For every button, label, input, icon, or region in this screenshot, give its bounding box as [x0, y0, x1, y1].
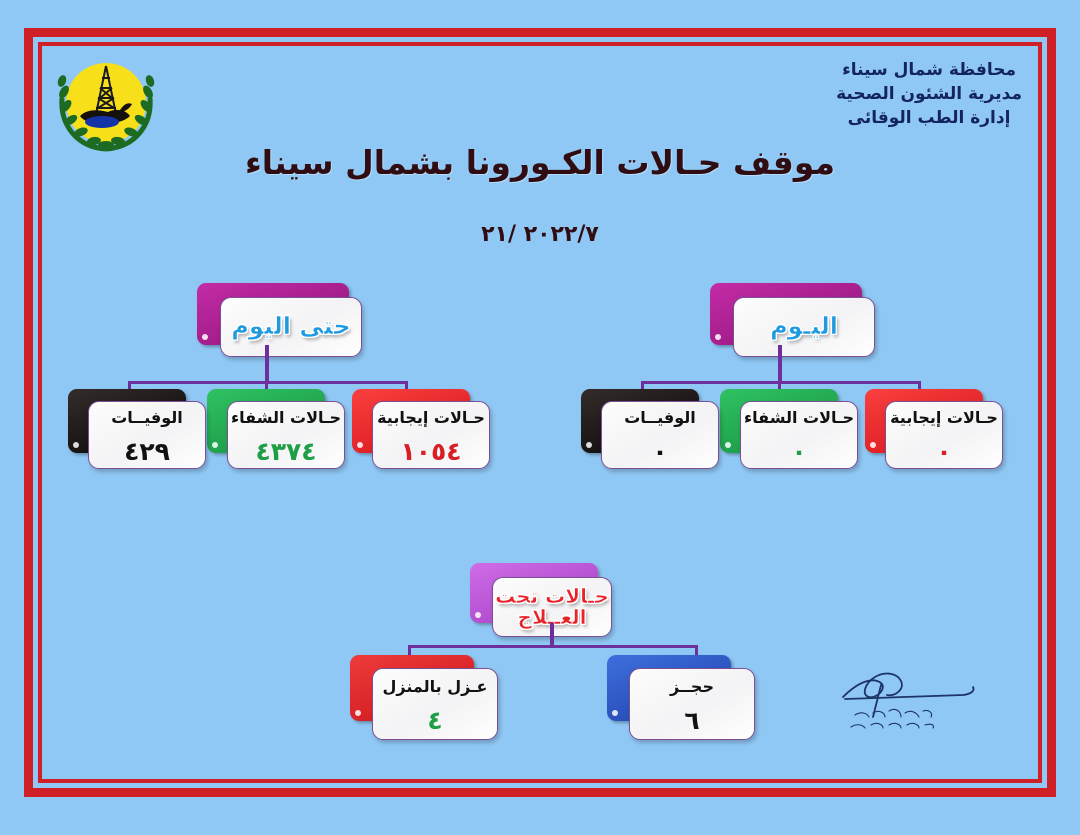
connector-vertical-today-root	[778, 345, 782, 383]
connector-vertical-treatment-root	[550, 623, 554, 647]
today-header-card[interactable]: اليـوم	[710, 283, 862, 345]
cumulative-header-label: حتى اليوم	[231, 314, 350, 339]
under-treatment-header-label-line-1: حـالات تحت	[495, 586, 609, 607]
under-treatment-header-card[interactable]: حـالات تحت العــلاج	[470, 563, 598, 623]
org-header-line-1: محافظة شمال سيناء	[836, 58, 1022, 82]
recovered-cases-cumulative-card[interactable]: حـالات الشفاء ٤٣٧٤	[207, 389, 325, 453]
deaths-cumulative-label: الوفيــات	[111, 410, 183, 427]
positive-cases-today-label: حـالات إيجابية	[890, 410, 998, 427]
cumulative-header-card[interactable]: حتى اليوم	[197, 283, 349, 345]
positive-cases-cumulative-value: ١٠٥٤	[400, 439, 461, 464]
deaths-today-value: ٠	[652, 439, 667, 464]
deaths-today-card[interactable]: الوفيــات ٠	[581, 389, 699, 453]
deaths-today-label: الوفيــات	[624, 410, 696, 427]
recovered-cases-cumulative-label: حـالات الشفاء	[231, 410, 341, 427]
hospital-admission-label: حجــز	[670, 679, 714, 696]
connector-horizontal-treatment	[408, 645, 698, 648]
positive-cases-today-card[interactable]: حـالات إيجابية ٠	[865, 389, 983, 453]
recovered-cases-cumulative-value: ٤٣٧٤	[255, 439, 316, 464]
deaths-cumulative-card[interactable]: الوفيــات ٤٢٩	[68, 389, 186, 453]
page-title: موقف حـالات الكـورونا بشمال سيناء	[0, 143, 1080, 182]
home-isolation-card[interactable]: عـزل بالمنزل ٤	[350, 655, 474, 721]
recovered-cases-today-value: ٠	[791, 439, 806, 464]
org-header-line-3: إدارة الطب الوقائى	[836, 106, 1022, 130]
connector-horizontal-cumulative	[128, 381, 408, 384]
report-date: ٢٠٢٢/٧ /٢١	[0, 222, 1080, 247]
poster-canvas: محافظة شمال سيناء مديرية الشئون الصحية إ…	[0, 0, 1080, 835]
organization-header: محافظة شمال سيناء مديرية الشئون الصحية إ…	[836, 58, 1022, 130]
today-header-label: اليـوم	[770, 314, 838, 339]
recovered-cases-today-card[interactable]: حـالات الشفاء ٠	[720, 389, 838, 453]
handwritten-signature	[815, 655, 990, 740]
positive-cases-today-value: ٠	[936, 439, 951, 464]
org-header-line-2: مديرية الشئون الصحية	[836, 82, 1022, 106]
home-isolation-value: ٤	[427, 708, 442, 733]
positive-cases-cumulative-label: حـالات إيجابية	[377, 410, 485, 427]
home-isolation-label: عـزل بالمنزل	[383, 679, 488, 696]
deaths-cumulative-value: ٤٢٩	[124, 439, 170, 464]
connector-vertical-cumulative-root	[265, 345, 269, 383]
connector-horizontal-today	[641, 381, 921, 384]
positive-cases-cumulative-card[interactable]: حـالات إيجابية ١٠٥٤	[352, 389, 470, 453]
hospital-admission-card[interactable]: حجــز ٦	[607, 655, 731, 721]
hospital-admission-value: ٦	[684, 708, 699, 733]
recovered-cases-today-label: حـالات الشفاء	[744, 410, 854, 427]
